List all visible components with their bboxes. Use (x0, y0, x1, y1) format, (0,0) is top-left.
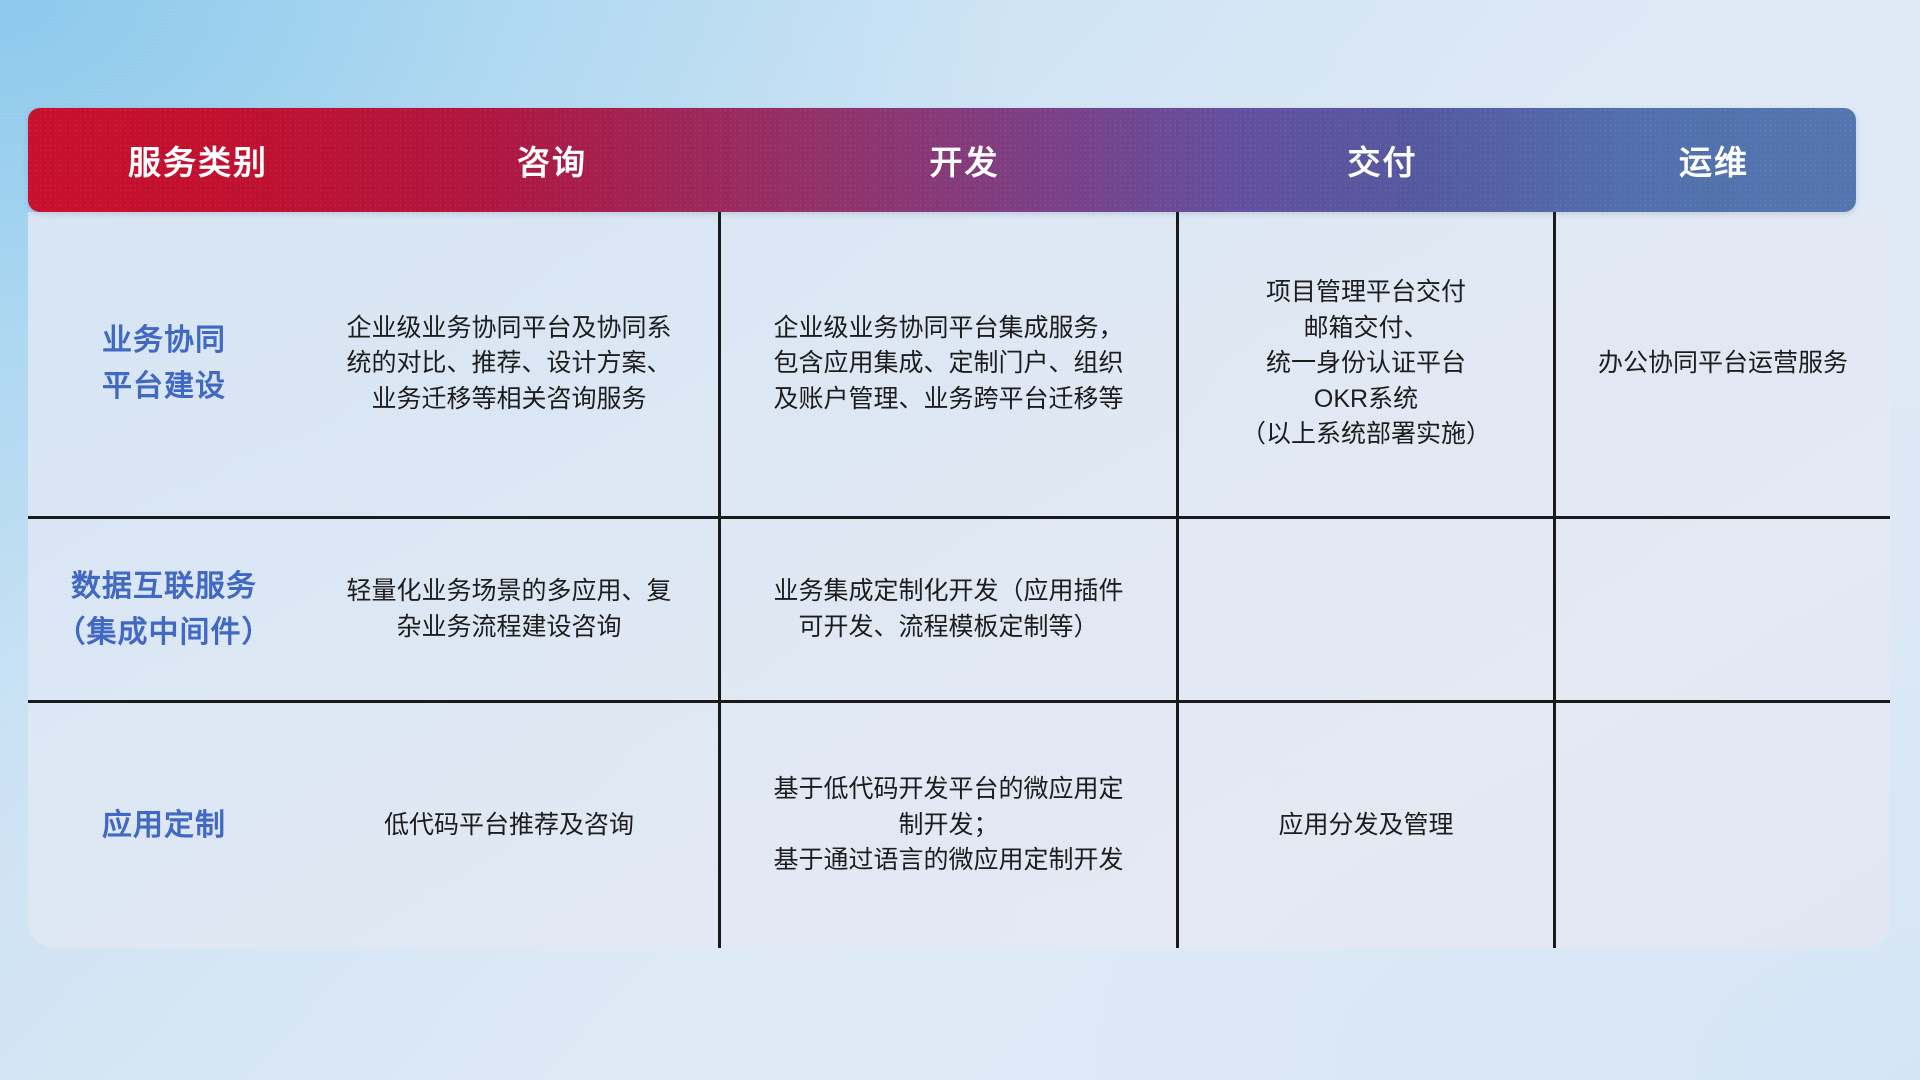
row-3-operations (1556, 703, 1890, 948)
column-header-delivery: 交付 (1193, 136, 1572, 184)
row-2-consulting: 轻量化业务场景的多应用、复 杂业务流程建设咨询 (300, 519, 718, 700)
row-1-operations: 办公协同平台运营服务 (1556, 212, 1890, 516)
row-3-category: 应用定制 (28, 703, 300, 948)
column-header-consulting: 咨询 (368, 136, 736, 184)
service-matrix-table: 服务类别 咨询 开发 交付 运维 业务协同 平台建设 企业级业务协同平台及协同系… (28, 108, 1890, 948)
row-3-delivery: 应用分发及管理 (1179, 703, 1553, 948)
slide-canvas: 服务类别 咨询 开发 交付 运维 业务协同 平台建设 企业级业务协同平台及协同系… (0, 0, 1920, 1080)
row-2-delivery (1179, 519, 1553, 700)
column-header-service-category: 服务类别 (28, 136, 368, 184)
column-header-development: 开发 (736, 136, 1193, 184)
row-3-consulting: 低代码平台推荐及咨询 (300, 703, 718, 948)
row-1-delivery: 项目管理平台交付 邮箱交付、 统一身份认证平台 OKR系统 （以上系统部署实施） (1179, 212, 1553, 516)
row-2-category: 数据互联服务 （集成中间件） (28, 519, 300, 700)
row-1-development: 企业级业务协同平台集成服务， 包含应用集成、定制门户、组织 及账户管理、业务跨平… (721, 212, 1176, 516)
row-3-development: 基于低代码开发平台的微应用定 制开发； 基于通过语言的微应用定制开发 (721, 703, 1176, 948)
row-1-consulting: 企业级业务协同平台及协同系 统的对比、推荐、设计方案、 业务迁移等相关咨询服务 (300, 212, 718, 516)
table-header-row: 服务类别 咨询 开发 交付 运维 (28, 108, 1856, 212)
column-header-operations: 运维 (1572, 136, 1856, 184)
row-2-development: 业务集成定制化开发（应用插件 可开发、流程模板定制等） (721, 519, 1176, 700)
row-2-operations (1556, 519, 1890, 700)
row-1-category: 业务协同 平台建设 (28, 212, 300, 516)
